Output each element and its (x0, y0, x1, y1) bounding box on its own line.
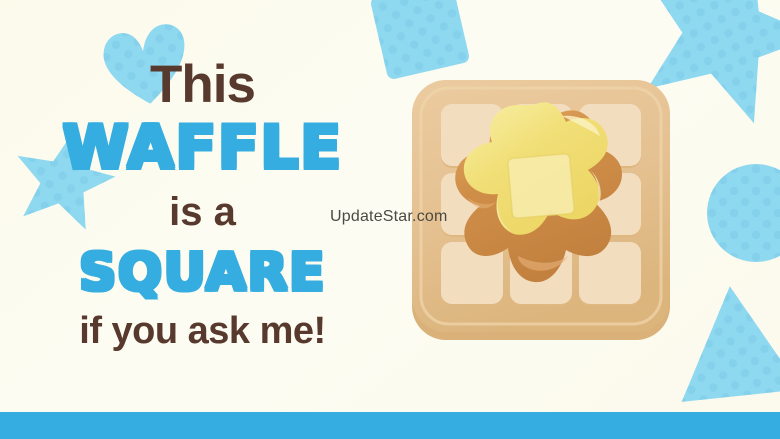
headline-line-2-waffle: WAFFLE (0, 118, 405, 178)
triangle-shape-decoration (670, 280, 780, 410)
waffle-illustration (410, 78, 672, 344)
watermark-text: UpdateStar.com (330, 208, 448, 226)
poster-text-block: This WAFFLE is a SQUARE if you ask me! (0, 58, 405, 350)
headline-line-1: This (0, 58, 405, 111)
poster-canvas: This WAFFLE is a SQUARE if you ask me! U… (0, 0, 780, 439)
circle-shape-decoration (706, 163, 780, 267)
headline-line-4-square: SQUARE (0, 247, 405, 299)
bottom-accent-bar (0, 412, 780, 439)
headline-line-5: if you ask me! (0, 312, 405, 350)
